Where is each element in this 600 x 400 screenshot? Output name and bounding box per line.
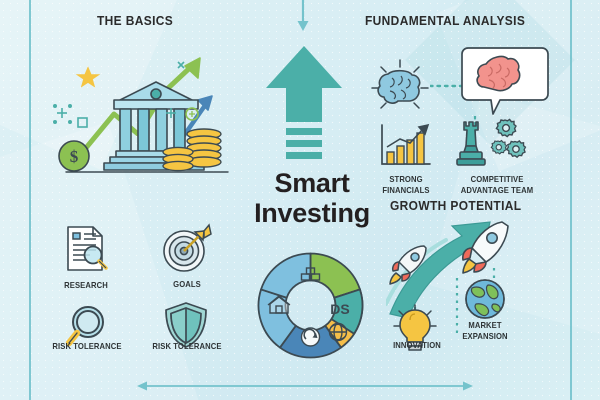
icon-label-goals: GOALS — [162, 279, 212, 290]
bank-building-icon: $ — [52, 48, 242, 178]
dollar-coin-icon: $ — [59, 141, 89, 171]
section-heading-the-basics: THE BASICS — [97, 13, 173, 28]
chess-rook-gears-icon — [455, 118, 527, 170]
icon-label-market-expansion: MARKET EXPANSION — [452, 320, 519, 341]
arrow-left-right-icon — [135, 376, 475, 396]
ds-text-icon: DS — [330, 301, 349, 317]
rocket-icon — [460, 218, 516, 276]
page-title-line-1: Smart — [232, 168, 392, 198]
infographic-canvas: THE BASICS FUNDAMENTAL ANALYSIS GROWTH P… — [0, 0, 600, 400]
icon-label-innovation: INNOVATION — [389, 340, 445, 351]
refresh-icon — [302, 328, 320, 346]
svg-text:$: $ — [70, 147, 79, 166]
globe-icon — [462, 276, 508, 322]
icon-label-strong-financials: STRONG FINANCIALS — [376, 174, 435, 195]
brain-speech-bubble-icon — [460, 44, 550, 124]
icon-label-research: RESEARCH — [56, 280, 115, 291]
investment-allocation-donut: DS — [253, 248, 368, 363]
arrow-down-icon — [292, 0, 314, 34]
section-heading-fundamental-analysis: FUNDAMENTAL ANALYSIS — [365, 13, 525, 28]
frame-line-left — [29, 0, 31, 400]
brain-icon — [370, 58, 430, 118]
icon-label-competitive-advantage-team: COMPETITIVE ADVANTAGE TEAM — [457, 174, 538, 195]
donut-segment-real-estate-b — [261, 254, 310, 298]
bar-chart-growth-icon — [378, 122, 434, 170]
rocket-icon — [388, 240, 434, 286]
icon-label-risk-tolerance-magnifier: RISK TOLERANCE — [51, 341, 123, 352]
section-heading-growth-potential: GROWTH POTENTIAL — [390, 198, 521, 213]
icon-label-risk-tolerance-shield: RISK TOLERANCE — [150, 341, 224, 352]
document-magnifier-icon — [62, 224, 110, 274]
frame-line-right — [570, 0, 572, 400]
arrow-up-icon — [262, 44, 346, 166]
page-title: Smart Investing — [232, 168, 392, 228]
page-title-line-2: Investing — [232, 198, 392, 228]
target-arrow-icon — [161, 222, 213, 274]
